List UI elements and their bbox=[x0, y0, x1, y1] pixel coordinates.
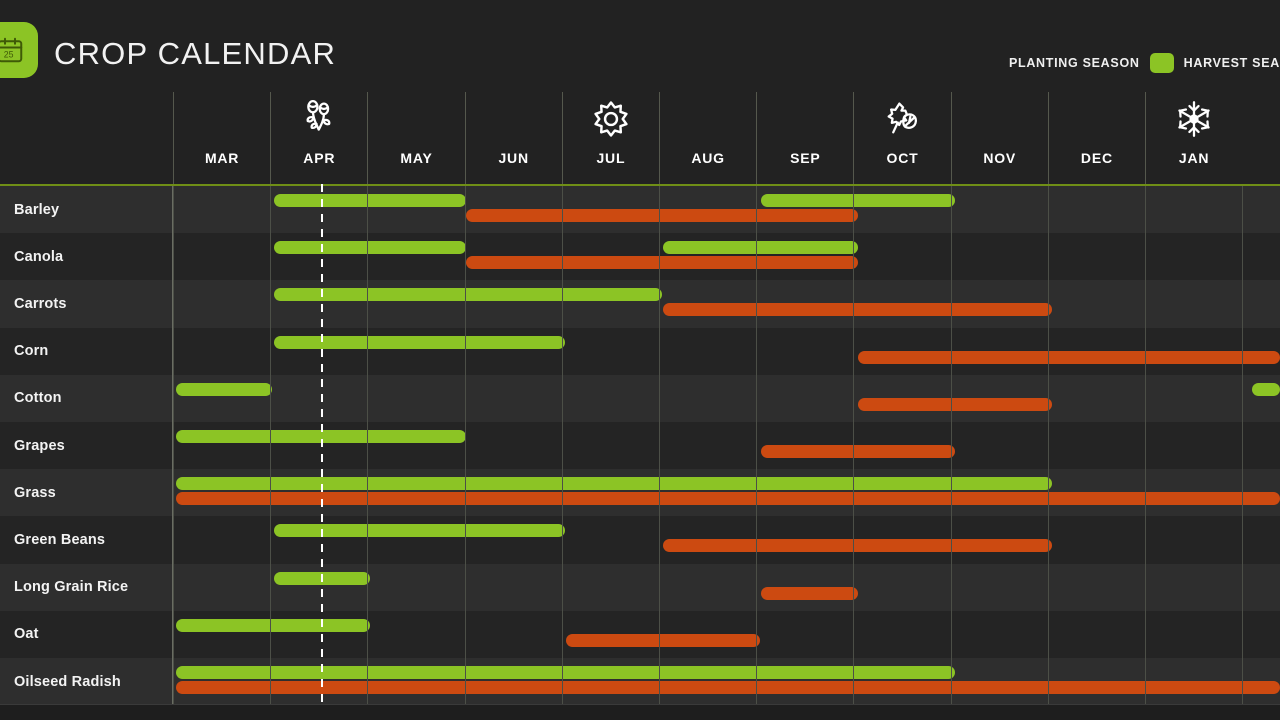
legend-planting-swatch bbox=[1150, 53, 1174, 73]
crop-label: Oat bbox=[14, 611, 39, 658]
month-column-may[interactable]: MAY bbox=[367, 92, 464, 185]
table-row[interactable]: Barley bbox=[0, 186, 1280, 233]
planting-bar[interactable] bbox=[176, 477, 1052, 490]
month-label: APR bbox=[271, 150, 367, 166]
flowers-icon bbox=[271, 98, 367, 140]
today-marker-line bbox=[321, 184, 323, 705]
harvest-bar[interactable] bbox=[176, 492, 1280, 505]
month-column-oct[interactable]: OCT bbox=[853, 92, 950, 185]
svg-text:25: 25 bbox=[4, 50, 14, 60]
harvest-bar[interactable] bbox=[176, 681, 1280, 694]
month-column-jan[interactable]: JAN bbox=[1145, 92, 1242, 185]
table-row[interactable]: Grass bbox=[0, 469, 1280, 516]
leaves-icon bbox=[854, 98, 950, 140]
month-label: AUG bbox=[660, 150, 756, 166]
planting-bar[interactable] bbox=[176, 619, 370, 632]
month-label: MAY bbox=[368, 150, 464, 166]
month-column-mar[interactable]: MAR bbox=[173, 92, 270, 185]
label-separator bbox=[172, 186, 173, 705]
calendar-icon: 25 bbox=[0, 35, 25, 65]
table-row[interactable]: Cotton bbox=[0, 375, 1280, 422]
harvest-bar[interactable] bbox=[761, 587, 858, 600]
crop-label: Grapes bbox=[14, 422, 65, 469]
month-label: OCT bbox=[854, 150, 950, 166]
month-column-dec[interactable]: DEC bbox=[1048, 92, 1145, 185]
footer-strip bbox=[0, 705, 1280, 720]
month-column-nov[interactable]: NOV bbox=[951, 92, 1048, 185]
planting-bar[interactable] bbox=[1252, 383, 1280, 396]
crop-label: Carrots bbox=[14, 280, 67, 327]
legend: PLANTING SEASON HARVEST SEA bbox=[1009, 53, 1280, 73]
month-label: SEP bbox=[757, 150, 853, 166]
month-header-row: MARAPRMAYJUNJULAUGSEPOCTNOVDECJAN bbox=[0, 92, 1280, 185]
table-row[interactable]: Corn bbox=[0, 328, 1280, 375]
crop-label: Long Grain Rice bbox=[14, 564, 128, 611]
crop-label: Grass bbox=[14, 469, 56, 516]
harvest-bar[interactable] bbox=[858, 398, 1052, 411]
table-row[interactable]: Long Grain Rice bbox=[0, 564, 1280, 611]
planting-bar[interactable] bbox=[176, 383, 272, 396]
harvest-bar[interactable] bbox=[466, 209, 858, 222]
harvest-bar[interactable] bbox=[761, 445, 955, 458]
table-row[interactable]: Green Beans bbox=[0, 516, 1280, 563]
month-column-apr[interactable]: APR bbox=[270, 92, 367, 185]
crop-label: Corn bbox=[14, 328, 48, 375]
crop-label: Green Beans bbox=[14, 516, 105, 563]
legend-harvest-label: HARVEST SEA bbox=[1184, 56, 1280, 70]
crop-label: Oilseed Radish bbox=[14, 658, 121, 705]
harvest-bar[interactable] bbox=[566, 634, 760, 647]
harvest-bar[interactable] bbox=[466, 256, 858, 269]
page-title: CROP CALENDAR bbox=[54, 36, 336, 72]
table-row[interactable]: Canola bbox=[0, 233, 1280, 280]
table-row[interactable]: Grapes bbox=[0, 422, 1280, 469]
planting-bar[interactable] bbox=[274, 288, 662, 301]
month-label: MAR bbox=[174, 150, 270, 166]
month-column-jun[interactable]: JUN bbox=[465, 92, 562, 185]
table-row[interactable]: Carrots bbox=[0, 280, 1280, 327]
crop-label: Barley bbox=[14, 186, 59, 233]
harvest-bar[interactable] bbox=[663, 539, 1052, 552]
month-label: JUN bbox=[466, 150, 562, 166]
month-column-jul[interactable]: JUL bbox=[562, 92, 659, 185]
planting-bar[interactable] bbox=[274, 241, 466, 254]
month-label: JUL bbox=[563, 150, 659, 166]
planting-bar[interactable] bbox=[761, 194, 955, 207]
planting-bar[interactable] bbox=[274, 194, 466, 207]
crop-label: Canola bbox=[14, 233, 63, 280]
calendar-body: BarleyCanolaCarrotsCornCottonGrapesGrass… bbox=[0, 186, 1280, 705]
month-column-aug[interactable]: AUG bbox=[659, 92, 756, 185]
header: 25 CROP CALENDAR PLANTING SEASON HARVEST… bbox=[0, 0, 1280, 92]
table-row[interactable]: Oat bbox=[0, 611, 1280, 658]
month-label: DEC bbox=[1049, 150, 1145, 166]
planting-bar[interactable] bbox=[274, 336, 565, 349]
planting-bar[interactable] bbox=[274, 524, 565, 537]
sun-icon bbox=[563, 98, 659, 140]
month-label: JAN bbox=[1146, 150, 1242, 166]
month-column-sep[interactable]: SEP bbox=[756, 92, 853, 185]
table-row[interactable]: Oilseed Radish bbox=[0, 658, 1280, 705]
app-logo[interactable]: 25 bbox=[0, 22, 38, 78]
month-label: NOV bbox=[952, 150, 1048, 166]
crop-label: Cotton bbox=[14, 375, 62, 422]
legend-planting-label: PLANTING SEASON bbox=[1009, 56, 1140, 70]
planting-bar[interactable] bbox=[663, 241, 858, 254]
harvest-bar[interactable] bbox=[858, 351, 1280, 364]
harvest-bar[interactable] bbox=[663, 303, 1052, 316]
snowflake-icon bbox=[1146, 98, 1242, 140]
crop-calendar-app: 25 CROP CALENDAR PLANTING SEASON HARVEST… bbox=[0, 0, 1280, 720]
planting-bar[interactable] bbox=[176, 666, 955, 679]
